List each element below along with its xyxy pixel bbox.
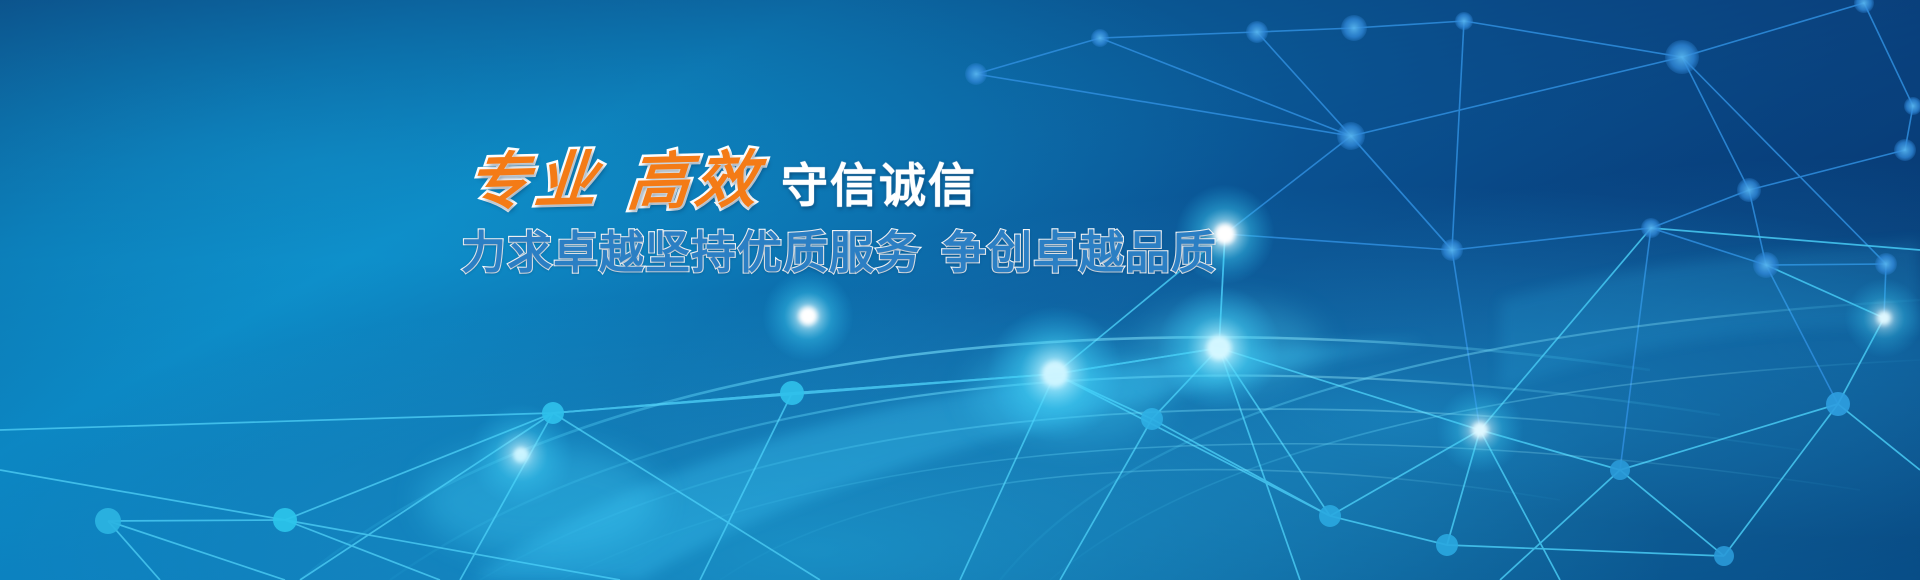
hero-banner: 专业 高效 守信诚信 力求卓越坚持优质服务 争创卓越品质 [0,0,1920,580]
network-graphic [0,0,1920,580]
glow-nodes [420,184,1920,555]
